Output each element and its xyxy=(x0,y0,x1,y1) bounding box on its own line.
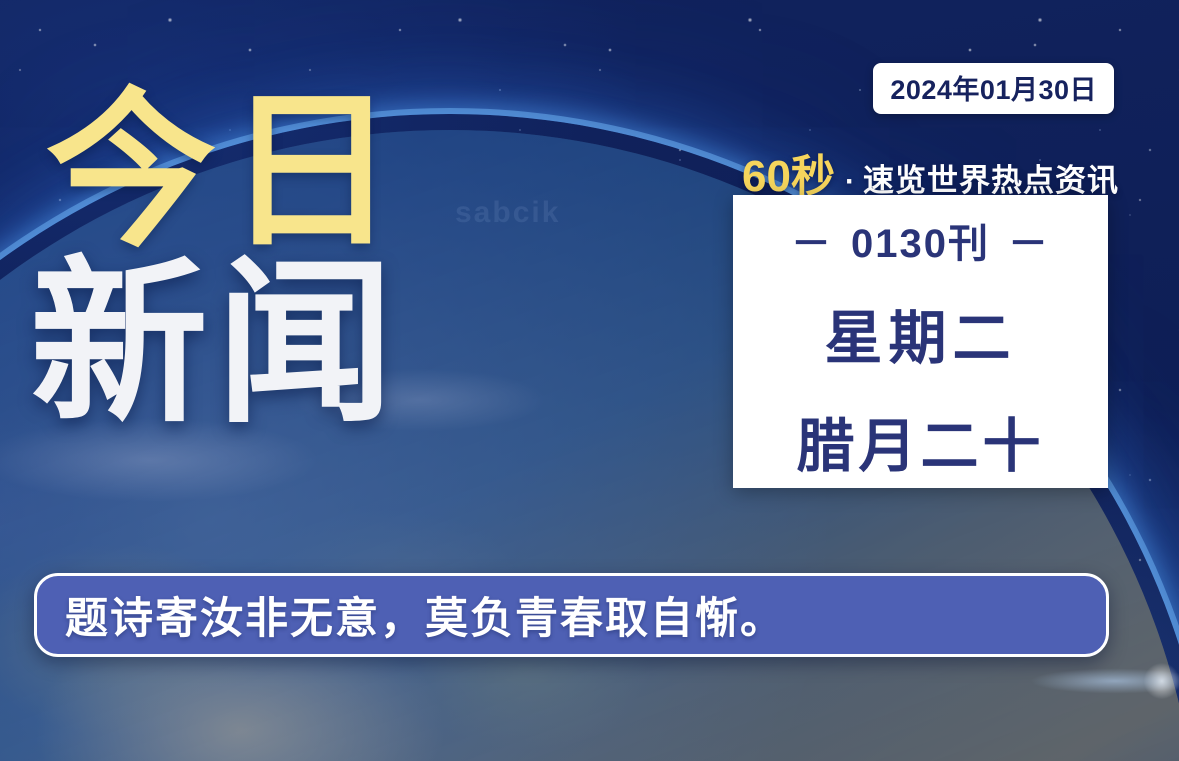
brand-title: 今日 新闻 xyxy=(46,96,406,424)
date-badge: 2024年01月30日 xyxy=(873,63,1114,114)
brand-title-line1: 今日 xyxy=(46,96,406,248)
quote-bar: 题诗寄汝非无意，莫负青春取自惭。 xyxy=(34,573,1109,657)
tagline-text: 速览世界热点资讯 xyxy=(863,155,1119,200)
tagline-separator: · xyxy=(845,165,855,199)
lunar-date-label: 腊月二十 xyxy=(796,399,1044,483)
issue-number: 0130刊 xyxy=(851,211,990,269)
quote-text: 题诗寄汝非无意，莫负青春取自惭。 xyxy=(65,584,785,646)
info-card: － 0130刊 － 星期二 腊月二十 xyxy=(733,195,1108,488)
news-poster: sabcik 今日 新闻 2024年01月30日 60秒 · 速览世界热点资讯 … xyxy=(0,0,1179,761)
brand-title-line2: 新闻 xyxy=(30,264,406,424)
issue-line: － 0130刊 － xyxy=(791,211,1050,269)
weekday-label: 星期二 xyxy=(824,291,1016,375)
issue-dash-right: － xyxy=(1008,211,1050,269)
issue-dash-left: － xyxy=(791,211,833,269)
